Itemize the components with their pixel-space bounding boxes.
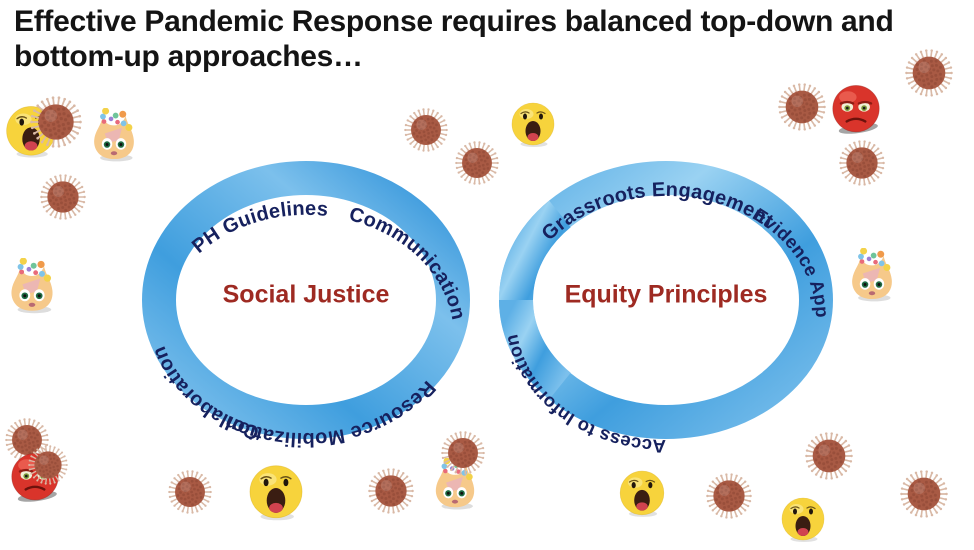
ring-label-ph-guidelines: PH Guidelines (188, 198, 329, 258)
decoration-layer (0, 0, 974, 550)
shouting-face-emoji (778, 495, 828, 545)
virus-particle (839, 140, 885, 186)
infinity-right-ring (516, 178, 816, 422)
virus-particle (368, 468, 414, 514)
ring-label-collaboration: Collaboration (148, 343, 261, 444)
center-label-social-justice: Social Justice (223, 281, 390, 309)
slide-canvas: Effective Pandemic Response requires bal… (0, 0, 974, 550)
infinity-left-ring (159, 178, 453, 422)
virus-particle (28, 445, 68, 485)
virus-particle (805, 432, 853, 480)
angry-face-emoji (827, 82, 885, 140)
infinity-crossover-lower (516, 300, 560, 386)
virus-particle (441, 431, 485, 475)
virus-particle (455, 141, 499, 185)
virus-particle (778, 83, 826, 131)
infinity-crossover (516, 214, 560, 300)
center-label-equity-principles: Equity Principles (565, 281, 768, 309)
shouting-face-emoji (616, 468, 668, 520)
exploding-head-emoji (843, 248, 901, 306)
exploding-head-emoji (85, 108, 143, 166)
ring-label-access-to-information: Access to Information (500, 333, 666, 458)
shouting-face-emoji (2, 103, 60, 161)
ring-label-resource-mobilization: Resource Mobilization (221, 376, 439, 450)
ring-label-grassroots-engagement: Grassroots Engagement (538, 179, 778, 245)
virus-particle (5, 418, 49, 462)
page-title: Effective Pandemic Response requires bal… (14, 4, 914, 75)
virus-particle (40, 174, 86, 220)
virus-particle (900, 470, 948, 518)
shouting-face-emoji (508, 100, 558, 150)
virus-particle (168, 470, 212, 514)
infinity-loop-diagram: PH Guidelines Communication Collaboratio… (0, 0, 974, 550)
ring-label-communication: Communication (347, 203, 470, 322)
exploding-head-emoji (427, 458, 483, 514)
shouting-face-emoji (245, 462, 307, 524)
virus-particle (404, 108, 448, 152)
exploding-head-emoji (2, 258, 62, 318)
virus-particle (30, 96, 82, 148)
virus-particle (706, 473, 752, 519)
angry-face-emoji (6, 450, 64, 508)
